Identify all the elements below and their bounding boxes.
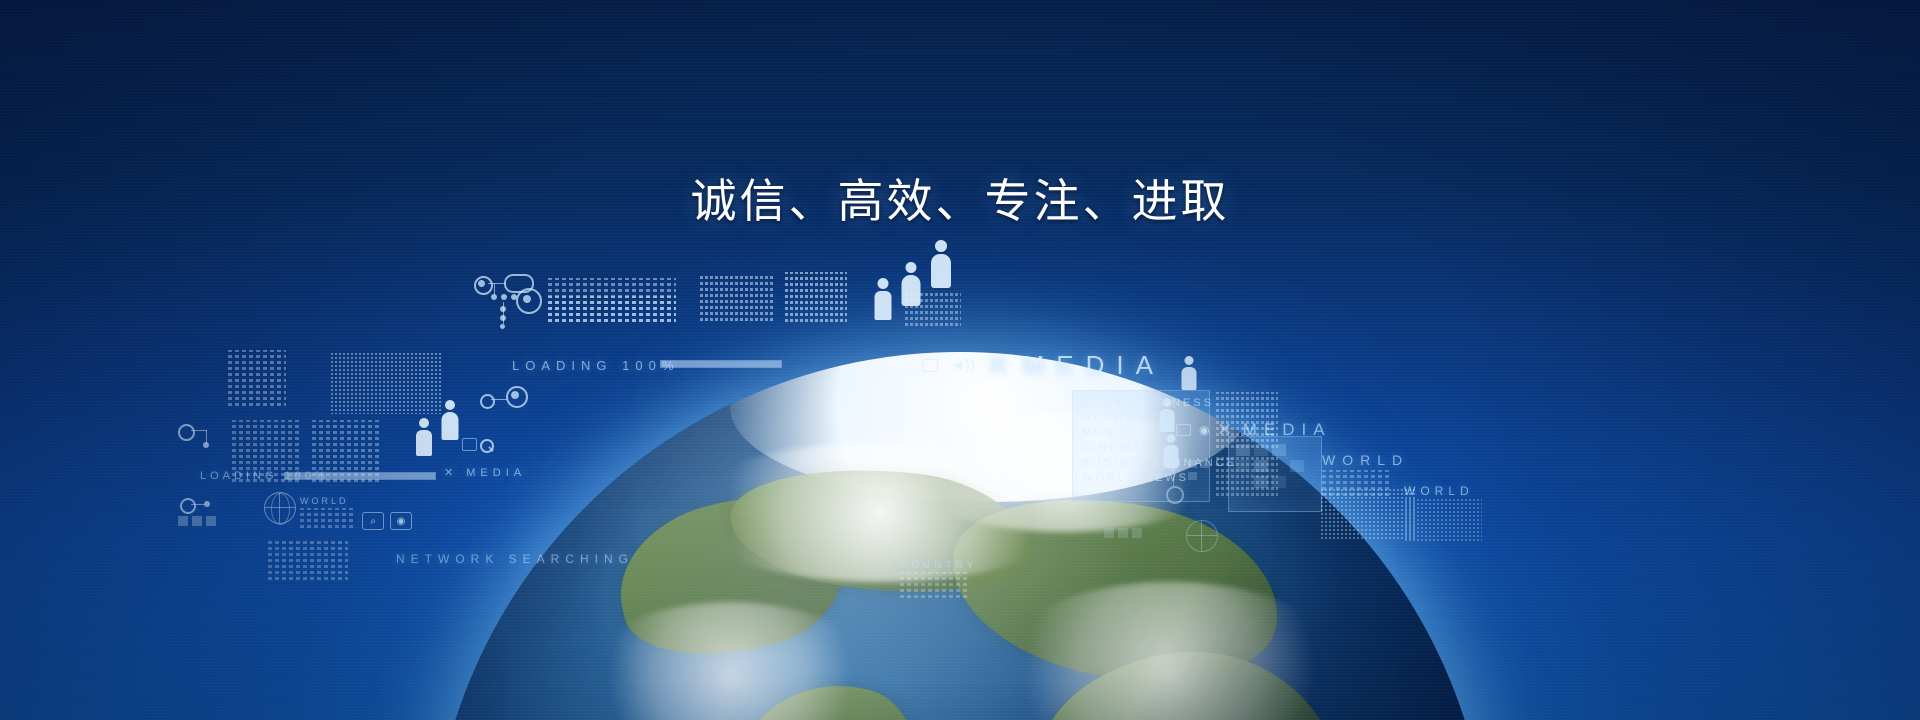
data-text-block: [228, 350, 286, 406]
data-text-block: [312, 420, 382, 482]
world-label: WORLD: [300, 496, 349, 506]
eye-icon: ◉: [390, 512, 412, 530]
dot-world-map-icon: [330, 352, 442, 414]
grid-panel[interactable]: [1228, 436, 1322, 512]
data-text-block: [300, 508, 354, 528]
node-network-icon: [180, 498, 220, 524]
progress-bar-left: [284, 472, 436, 480]
menu-item-world-news[interactable]: WORLD NEWS: [1082, 471, 1237, 486]
page-title: 诚信、高效、专注、进取: [0, 165, 1920, 231]
data-text-block: [268, 540, 348, 580]
menu-item-show-business[interactable]: SHOW BUSINESS: [1082, 396, 1237, 411]
menu-item-network[interactable]: NETWORK: [1082, 411, 1237, 426]
menu-item-business-finance[interactable]: BUSINESS/FINANCE: [1082, 456, 1237, 471]
data-text-block: [232, 420, 302, 482]
data-text-block: [548, 296, 676, 322]
data-text-block: [548, 278, 676, 322]
node-network-icon: [470, 272, 540, 332]
menu-item-cinema[interactable]: CINEMA: [1082, 441, 1237, 456]
search-icon: ⌕: [362, 512, 384, 530]
node-network-icon: [178, 424, 224, 456]
menu-item-music[interactable]: MUSIC: [1082, 426, 1237, 441]
loading-label-left: LOADING 100%: [200, 470, 329, 482]
person-icon: [872, 278, 894, 320]
globe-terminator: [430, 352, 1490, 720]
person-icon: [900, 262, 922, 306]
globe-sphere: [430, 352, 1490, 720]
globe-wire-icon: [264, 492, 296, 524]
person-icon: [1180, 356, 1198, 390]
earth-globe: [430, 352, 1490, 720]
panel-menu-list: SHOW BUSINESS NETWORK MUSIC CINEMA BUSIN…: [1082, 396, 1237, 486]
person-icon: [440, 400, 460, 440]
grid-squares: [178, 516, 216, 526]
hero-banner: 诚信、高效、专注、进取 LOADING 100% ◄)): [0, 0, 1920, 720]
person-icon: [929, 240, 953, 288]
person-icon: [414, 418, 434, 456]
